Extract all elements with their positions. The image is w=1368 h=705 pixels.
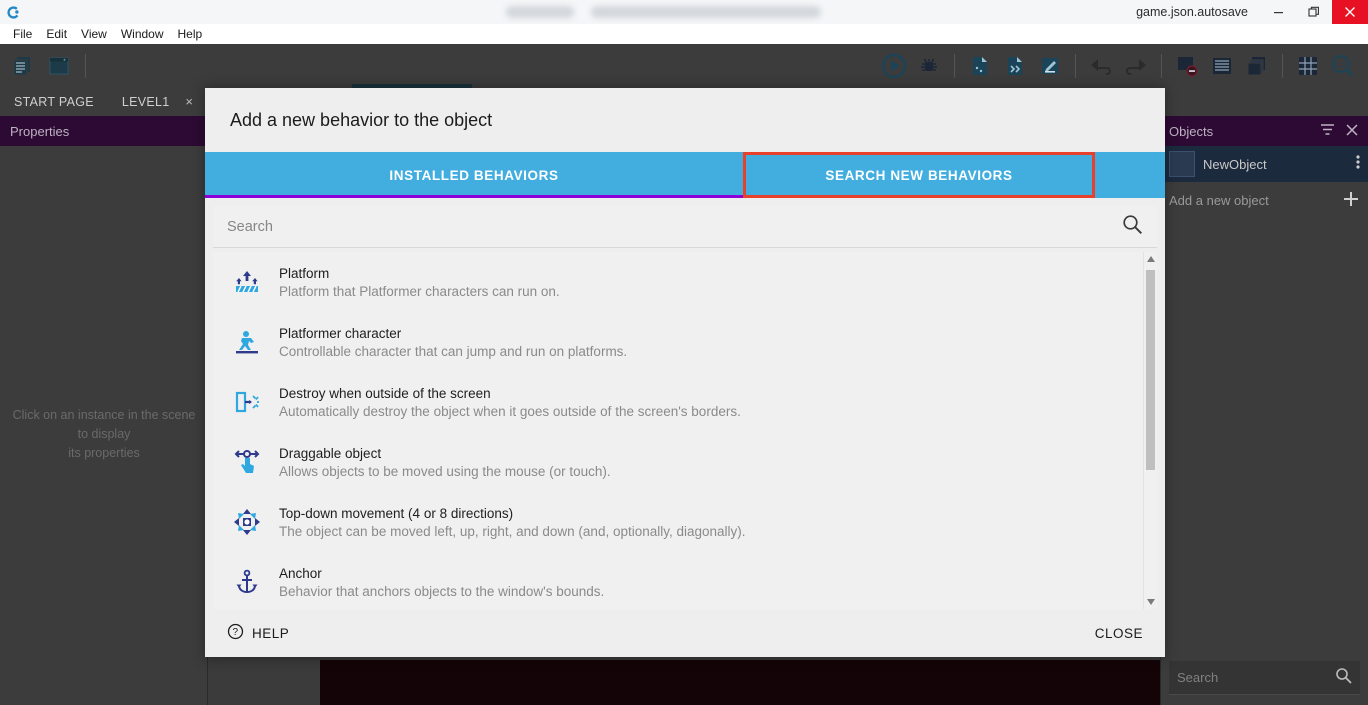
platformer-character-icon bbox=[231, 326, 263, 358]
scene-viewport bbox=[320, 660, 1160, 705]
scrollbar-thumb[interactable] bbox=[1146, 270, 1155, 470]
behavior-list-scrollbar[interactable] bbox=[1143, 252, 1157, 609]
tab-start-page[interactable]: START PAGE bbox=[0, 88, 108, 116]
toolbar-separator bbox=[1161, 54, 1162, 78]
add-new-object-button[interactable]: Add a new object bbox=[1161, 182, 1368, 218]
behavior-text: Destroy when outside of the screen Autom… bbox=[279, 386, 741, 419]
svg-text:1:1: 1:1 bbox=[1335, 61, 1347, 70]
behavior-description: Allows objects to be moved using the mou… bbox=[279, 464, 611, 479]
more-vertical-icon[interactable] bbox=[1356, 154, 1360, 175]
top-down-movement-icon bbox=[231, 506, 263, 538]
behavior-text: Anchor Behavior that anchors objects to … bbox=[279, 566, 604, 599]
open-object-groups-icon[interactable] bbox=[1000, 51, 1030, 81]
scrollbar-track[interactable] bbox=[1146, 266, 1155, 595]
help-button[interactable]: ? HELP bbox=[227, 623, 289, 643]
toolbar-separator bbox=[1075, 54, 1076, 78]
plus-icon[interactable] bbox=[1342, 190, 1360, 211]
application-window: game.json.autosave File Edit View Windo bbox=[0, 0, 1368, 705]
open-layers-list-icon[interactable] bbox=[1207, 51, 1237, 81]
scroll-down-icon[interactable] bbox=[1144, 595, 1157, 609]
behavior-description: Platform that Platformer characters can … bbox=[279, 284, 560, 299]
toolbar-right-group: 1:1 bbox=[879, 51, 1368, 81]
properties-hint-line-2: its properties bbox=[10, 444, 198, 463]
behavior-name: Draggable object bbox=[279, 446, 611, 461]
behavior-text: Top-down movement (4 or 8 directions) Th… bbox=[279, 506, 746, 539]
toggle-grid-icon[interactable] bbox=[1293, 51, 1323, 81]
behavior-list-item[interactable]: Platform Platform that Platformer charac… bbox=[213, 252, 1157, 312]
help-circle-icon: ? bbox=[227, 623, 244, 643]
scene-editor-icon[interactable] bbox=[44, 51, 74, 81]
tab-installed-behaviors-label: INSTALLED BEHAVIORS bbox=[389, 168, 558, 183]
toolbar-separator bbox=[954, 54, 955, 78]
behavior-search-field[interactable]: Search bbox=[213, 206, 1157, 248]
object-list-item[interactable]: NewObject bbox=[1161, 146, 1368, 182]
preview-play-icon[interactable] bbox=[879, 51, 909, 81]
filter-icon[interactable] bbox=[1319, 121, 1336, 141]
add-new-object-label: Add a new object bbox=[1169, 193, 1342, 208]
toolbar-separator bbox=[85, 54, 86, 78]
objects-search-field[interactable]: Search bbox=[1169, 661, 1360, 695]
menu-bar: File Edit View Window Help bbox=[0, 24, 1368, 44]
menu-item-view[interactable]: View bbox=[74, 24, 114, 44]
open-properties-icon[interactable] bbox=[1035, 51, 1065, 81]
tab-level1[interactable]: LEVEL1 × bbox=[108, 88, 207, 116]
tab-search-new-behaviors-label: SEARCH NEW BEHAVIORS bbox=[825, 168, 1012, 183]
behavior-list-item[interactable]: Destroy when outside of the screen Autom… bbox=[213, 372, 1157, 432]
behavior-list-item[interactable]: Draggable object Allows objects to be mo… bbox=[213, 432, 1157, 492]
menu-item-help[interactable]: Help bbox=[171, 24, 210, 44]
project-manager-icon[interactable] bbox=[8, 51, 38, 81]
anchor-icon bbox=[231, 566, 263, 598]
dialog-title: Add a new behavior to the object bbox=[205, 88, 1165, 152]
toolbar-separator bbox=[1282, 54, 1283, 78]
main-toolbar: 1:1 bbox=[0, 44, 1368, 88]
properties-panel-header: Properties bbox=[0, 116, 207, 146]
tab-start-page-label: START PAGE bbox=[14, 95, 94, 109]
help-button-label: HELP bbox=[252, 626, 289, 641]
window-title-text: game.json.autosave bbox=[1136, 5, 1248, 19]
behavior-text: Draggable object Allows objects to be mo… bbox=[279, 446, 611, 479]
debug-bug-icon[interactable] bbox=[914, 51, 944, 81]
menu-item-file[interactable]: File bbox=[6, 24, 39, 44]
menu-item-window[interactable]: Window bbox=[114, 24, 171, 44]
dialog-tab-bar: INSTALLED BEHAVIORS SEARCH NEW BEHAVIORS bbox=[205, 152, 1165, 198]
behavior-description: Automatically destroy the object when it… bbox=[279, 404, 741, 419]
add-behavior-dialog: Add a new behavior to the object INSTALL… bbox=[205, 88, 1165, 657]
tab-close-icon[interactable]: × bbox=[185, 94, 193, 109]
close-icon[interactable] bbox=[1332, 0, 1368, 24]
properties-empty-hint: Click on an instance in the scene to dis… bbox=[0, 406, 208, 463]
destroy-outside-screen-icon bbox=[231, 386, 263, 418]
close-icon[interactable] bbox=[1344, 122, 1360, 141]
objects-panel: Objects NewObject bbox=[1160, 116, 1368, 705]
behavior-text: Platformer character Controllable charac… bbox=[279, 326, 627, 359]
search-icon[interactable] bbox=[1122, 214, 1143, 240]
tab-search-new-behaviors[interactable]: SEARCH NEW BEHAVIORS bbox=[743, 152, 1095, 198]
behavior-list[interactable]: Platform Platform that Platformer charac… bbox=[213, 252, 1157, 609]
redo-icon[interactable] bbox=[1121, 51, 1151, 81]
object-thumbnail bbox=[1169, 151, 1195, 177]
behavior-text: Platform Platform that Platformer charac… bbox=[279, 266, 560, 299]
svg-text:?: ? bbox=[232, 627, 238, 638]
behavior-name: Platform bbox=[279, 266, 560, 281]
properties-panel: Properties Click on an instance in the s… bbox=[0, 116, 208, 705]
menu-item-edit[interactable]: Edit bbox=[39, 24, 74, 44]
behavior-list-item[interactable]: Anchor Behavior that anchors objects to … bbox=[213, 552, 1157, 609]
hide-instances-icon[interactable] bbox=[1172, 51, 1202, 81]
title-redacted-part-2 bbox=[591, 6, 821, 18]
zoom-reset-icon[interactable]: 1:1 bbox=[1328, 51, 1358, 81]
close-dialog-button[interactable]: CLOSE bbox=[1095, 626, 1143, 641]
gdevelop-logo-icon bbox=[0, 0, 26, 24]
behavior-description: Behavior that anchors objects to the win… bbox=[279, 584, 604, 599]
behavior-list-item[interactable]: Platformer character Controllable charac… bbox=[213, 312, 1157, 372]
behavior-name: Destroy when outside of the screen bbox=[279, 386, 741, 401]
undo-icon[interactable] bbox=[1086, 51, 1116, 81]
restore-icon[interactable] bbox=[1296, 0, 1332, 24]
behavior-list-item[interactable]: Top-down movement (4 or 8 directions) Th… bbox=[213, 492, 1157, 552]
toolbar-left-group bbox=[0, 51, 91, 81]
window-title: game.json.autosave bbox=[26, 0, 1260, 24]
properties-panel-title: Properties bbox=[10, 124, 69, 139]
minimize-icon[interactable] bbox=[1260, 0, 1296, 24]
behavior-description: Controllable character that can jump and… bbox=[279, 344, 627, 359]
properties-hint-line-1: Click on an instance in the scene to dis… bbox=[10, 406, 198, 444]
tab-installed-behaviors[interactable]: INSTALLED BEHAVIORS bbox=[205, 152, 743, 198]
open-layers-icon[interactable] bbox=[1242, 51, 1272, 81]
objects-search-placeholder: Search bbox=[1177, 670, 1335, 685]
window-controls bbox=[1260, 0, 1368, 24]
object-name: NewObject bbox=[1203, 157, 1348, 172]
tab-level1-label: LEVEL1 bbox=[122, 95, 170, 109]
platform-icon bbox=[231, 266, 263, 298]
title-bar: game.json.autosave bbox=[0, 0, 1368, 24]
behavior-search-placeholder: Search bbox=[227, 219, 1122, 235]
behavior-name: Anchor bbox=[279, 566, 604, 581]
dialog-footer: ? HELP CLOSE bbox=[205, 609, 1165, 657]
behavior-name: Top-down movement (4 or 8 directions) bbox=[279, 506, 746, 521]
draggable-object-icon bbox=[231, 446, 263, 478]
objects-panel-title: Objects bbox=[1169, 124, 1311, 139]
open-objects-icon[interactable] bbox=[965, 51, 995, 81]
search-icon[interactable] bbox=[1335, 667, 1352, 689]
title-redacted-part-1 bbox=[506, 6, 574, 18]
objects-panel-header: Objects bbox=[1161, 116, 1368, 146]
behavior-name: Platformer character bbox=[279, 326, 627, 341]
behavior-description: The object can be moved left, up, right,… bbox=[279, 524, 746, 539]
scroll-up-icon[interactable] bbox=[1144, 252, 1157, 266]
